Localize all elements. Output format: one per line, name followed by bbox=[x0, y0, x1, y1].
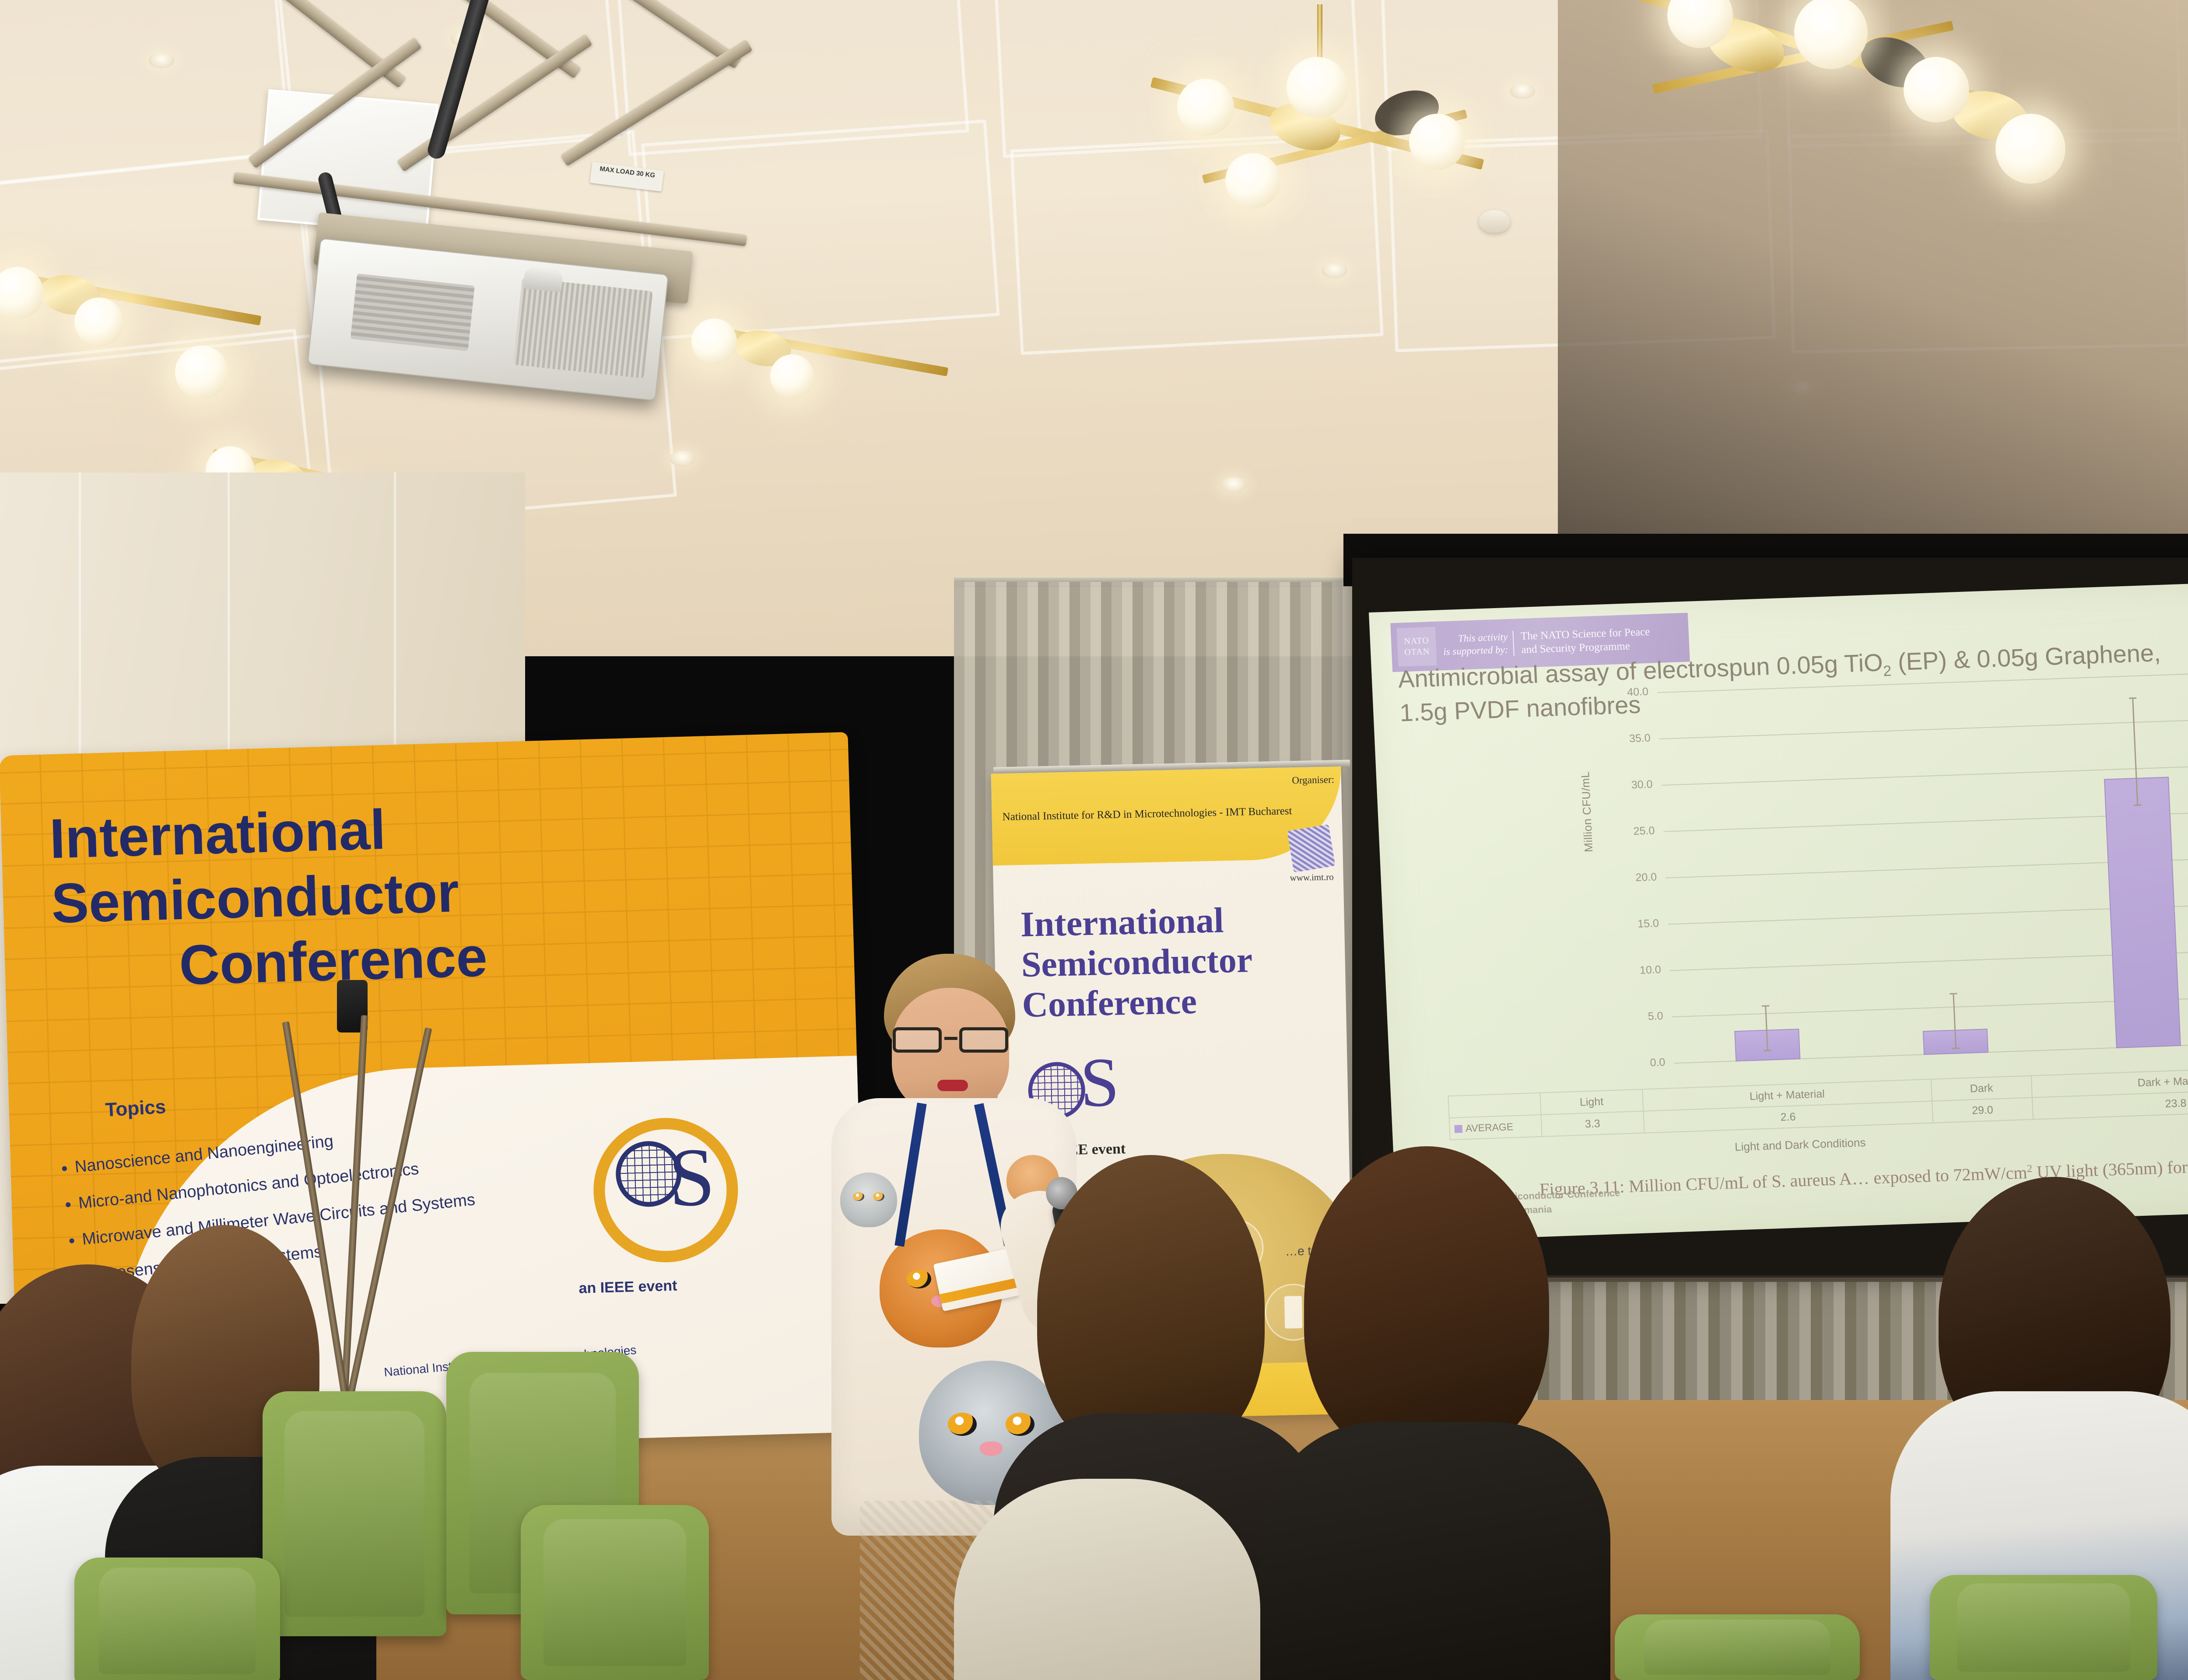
ceiling-downlight bbox=[149, 52, 174, 68]
cat-print-small bbox=[840, 1172, 897, 1227]
error-bar-cap-top bbox=[1762, 1005, 1769, 1007]
backdrop-title-word-mid: Semiconductor bbox=[51, 861, 460, 935]
chandelier-globe bbox=[1177, 79, 1234, 136]
chandelier-globe bbox=[1225, 153, 1280, 208]
y-axis-title: Million CFU/mL bbox=[1578, 771, 1595, 853]
slide-title-part2: (EP) & 0.05g Graphene, bbox=[1890, 639, 2161, 675]
chandelier-globe bbox=[1287, 57, 1348, 118]
legend-color-swatch bbox=[1454, 1125, 1462, 1133]
audience-chair bbox=[74, 1557, 280, 1680]
audience-chair bbox=[521, 1505, 709, 1680]
bar-group-light bbox=[1659, 686, 1860, 1064]
bar-group-light-material bbox=[1848, 679, 2048, 1057]
audience-head bbox=[1304, 1146, 1549, 1461]
projector-ports bbox=[351, 273, 475, 351]
audience-chair bbox=[1615, 1614, 1860, 1680]
nato-supported-by-text: This activity is supported by: bbox=[1442, 631, 1515, 658]
y-tick-label: 35.0 bbox=[1602, 732, 1651, 746]
tower-glyph bbox=[1284, 1296, 1303, 1329]
cat-eye bbox=[853, 1192, 864, 1201]
chandelier bbox=[1103, 66, 1540, 276]
eyeglass-bridge bbox=[944, 1037, 957, 1040]
max-load-warning-label: MAX LOAD 30 KG bbox=[590, 162, 664, 192]
projector-lens-icon bbox=[523, 264, 564, 292]
audience-chair bbox=[1930, 1575, 2157, 1680]
backdrop-topics-heading: Topics bbox=[105, 1096, 166, 1121]
imt-url: www.imt.ro bbox=[1290, 871, 1334, 883]
bar-dark bbox=[2104, 777, 2181, 1048]
error-bar-cap-bottom bbox=[1764, 1050, 1771, 1051]
presentation-slide: NATO OTAN This activity is supported by:… bbox=[1369, 573, 2188, 1242]
bar-chart: Million CFU/mL 40.0 35.0 30.0 25.0 20.0 … bbox=[1583, 665, 2188, 1114]
y-tick-label: 10.0 bbox=[1613, 963, 1661, 978]
error-bar-cap-bottom bbox=[1952, 1047, 1960, 1049]
x-axis-title: Light and Dark Conditions bbox=[1735, 1136, 1866, 1154]
rollup-title-line1: International bbox=[1020, 898, 1327, 945]
isc-conference-logo: S bbox=[592, 1116, 740, 1264]
ceiling-downlight bbox=[1221, 477, 1246, 493]
chandelier-globe bbox=[1995, 114, 2065, 184]
projector-cable-sleeve bbox=[426, 0, 493, 161]
ceiling-projector-rig: MAX LOAD 30 KG bbox=[206, 0, 796, 407]
nato-logo-icon: NATO OTAN bbox=[1397, 627, 1437, 667]
chandelier-globe bbox=[74, 297, 123, 346]
imt-bucharest-logo: www.imt.ro bbox=[1289, 827, 1334, 883]
rollup-organiser-label: Organiser: bbox=[1292, 773, 1334, 787]
chandelier-globe bbox=[0, 267, 44, 319]
cat-eye bbox=[1006, 1413, 1034, 1436]
nato-programme-text: The NATO Science for Peace and Security … bbox=[1520, 625, 1651, 657]
scissor-lift-arm bbox=[560, 39, 753, 166]
table-corner-cell bbox=[1448, 1093, 1541, 1118]
chandelier-globe bbox=[1409, 114, 1465, 170]
cat-eye bbox=[907, 1270, 931, 1288]
presenter-mouth bbox=[937, 1080, 968, 1091]
value-dark: 29.0 bbox=[1932, 1098, 2033, 1123]
legend-average: AVERAGE bbox=[1449, 1115, 1542, 1140]
nato-logo-bottom: OTAN bbox=[1404, 646, 1430, 658]
y-tick-label: 20.0 bbox=[1609, 871, 1657, 885]
column-header-light: Light bbox=[1540, 1089, 1643, 1115]
slide-title-subscript: 2 bbox=[1883, 663, 1892, 680]
backdrop-ieee-event-label: an IEEE event bbox=[579, 1277, 677, 1297]
eyeglasses-icon bbox=[891, 1027, 1010, 1054]
eyeglass-lens-right bbox=[959, 1027, 1008, 1053]
conference-room-photo: MAX LOAD 30 KG NATO OTAN This activity i… bbox=[0, 0, 2188, 1680]
y-tick-label: 0.0 bbox=[1617, 1056, 1666, 1071]
y-tick-label: 15.0 bbox=[1610, 917, 1659, 931]
nato-supported-line2: is supported by: bbox=[1443, 644, 1508, 658]
backdrop-title: International Semiconductor Conference bbox=[49, 786, 798, 1002]
backdrop-title-line1: International bbox=[49, 798, 386, 870]
nato-logo-top: NATO bbox=[1404, 635, 1429, 647]
cat-nose bbox=[980, 1442, 1003, 1456]
projector-vent bbox=[513, 278, 652, 378]
error-bar-cap-top bbox=[2129, 697, 2136, 699]
chart-plot-area bbox=[1659, 665, 2188, 1064]
eyeglass-lens-left bbox=[893, 1027, 942, 1053]
error-bar-cap-top bbox=[1950, 993, 1957, 995]
chandelier bbox=[1558, 0, 2105, 214]
column-header-dark: Dark bbox=[1931, 1076, 2032, 1101]
scissor-lift-arm bbox=[553, 0, 742, 69]
audience-chair bbox=[263, 1391, 446, 1636]
bar-group-dark bbox=[2040, 672, 2188, 1050]
y-tick-label: 40.0 bbox=[1600, 686, 1648, 700]
chandelier-globe bbox=[1904, 57, 1969, 122]
cat-eye bbox=[873, 1192, 884, 1201]
audience-shoulders bbox=[1260, 1422, 1610, 1680]
y-tick-label: 5.0 bbox=[1615, 1010, 1663, 1024]
y-tick-label: 30.0 bbox=[1604, 778, 1653, 793]
y-tick-label: 25.0 bbox=[1606, 824, 1655, 839]
value-light: 3.3 bbox=[1541, 1111, 1644, 1137]
imt-cube-icon bbox=[1287, 824, 1335, 872]
legend-label: AVERAGE bbox=[1465, 1121, 1514, 1134]
error-bar-cap-bottom bbox=[2134, 805, 2141, 806]
isc-logo-s-glyph: S bbox=[668, 1144, 716, 1211]
cat-eye bbox=[948, 1413, 977, 1436]
